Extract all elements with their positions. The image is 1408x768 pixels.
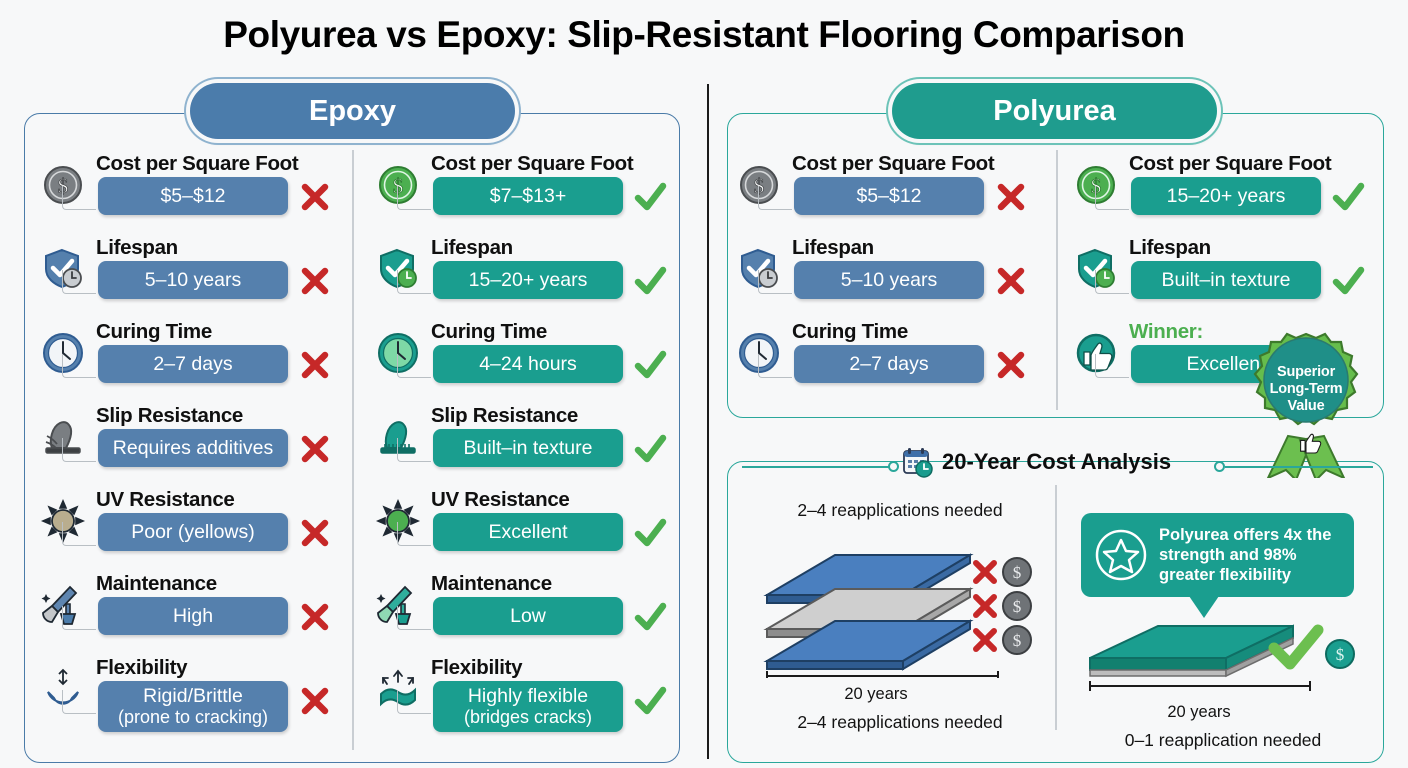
polyurea-header-pill[interactable]: Polyurea [892, 83, 1217, 139]
epoxy-polyurea-value-pill[interactable]: Excellent [433, 513, 623, 551]
page-title: Polyurea vs Epoxy: Slip-Resistant Floori… [0, 14, 1408, 56]
cross-mark-icon [994, 348, 1028, 382]
polyurea-polyurea-value-pill[interactable]: 15–20+ years [1131, 177, 1321, 215]
epoxy-epoxy-value: Requires additives [113, 437, 273, 459]
polyurea-epoxy-value: 5–10 years [841, 269, 937, 291]
polyurea-polyurea-label: Cost per Square Foot [1129, 152, 1331, 176]
epoxy-epoxy-value-pill[interactable]: 2–7 days [98, 345, 288, 383]
epoxy-epoxy-value-pill[interactable]: Requires additives [98, 429, 288, 467]
epoxy-polyurea-value: Highly flexible [468, 685, 588, 707]
epoxy-epoxy-value-sub: (prone to cracking) [118, 707, 268, 728]
polyurea-epoxy-mark [994, 348, 1028, 382]
cost-analysis-line-right [1225, 466, 1373, 468]
connector-line [62, 522, 96, 546]
cost-analysis-node-left [888, 461, 899, 472]
polyurea-polyurea-label: Lifespan [1129, 236, 1211, 260]
epoxy-epoxy-mark [298, 348, 332, 382]
cost-analysis-epoxy-column: 2–4 reapplications needed [755, 500, 1045, 733]
epoxy-layers-diagram: $ $ $ [755, 533, 1045, 678]
connector-line [62, 186, 96, 210]
epoxy-polyurea-mark [633, 180, 667, 214]
cost-analysis-polyurea-column: $ 20 years 0–1 reapplication needed [1078, 620, 1368, 751]
polyurea-polyurea-value: Built–in texture [1162, 269, 1291, 291]
epoxy-epoxy-label: Curing Time [96, 320, 212, 344]
polyurea-epoxy-mark [994, 264, 1028, 298]
cross-mark-icon [994, 180, 1028, 214]
epoxy-epoxy-label: Flexibility [96, 656, 187, 680]
cross-mark-icon [994, 264, 1028, 298]
left-panel-column-divider [352, 150, 354, 750]
polyurea-axis-label: 20 years [1030, 703, 1368, 722]
epoxy-polyurea-label: Flexibility [431, 656, 522, 680]
cost-analysis-heading-label: 20-Year Cost Analysis [942, 449, 1171, 475]
connector-line [397, 522, 431, 546]
check-mark-icon [1331, 180, 1365, 214]
epoxy-polyurea-value-pill[interactable]: Low [433, 597, 623, 635]
epoxy-polyurea-value: $7–$13+ [490, 185, 566, 207]
epoxy-epoxy-label: Maintenance [96, 572, 217, 596]
polyurea-polyurea-value-pill[interactable]: Built–in texture [1131, 261, 1321, 299]
connector-line [758, 270, 792, 294]
check-mark-icon [633, 432, 667, 466]
svg-text:$: $ [1013, 563, 1022, 582]
polyurea-epoxy-value-pill[interactable]: $5–$12 [794, 177, 984, 215]
polyurea-epoxy-label: Lifespan [792, 236, 874, 260]
connector-line [397, 270, 431, 294]
cost-analysis-heading: 20-Year Cost Analysis [900, 445, 1171, 479]
epoxy-polyurea-value-sub: (bridges cracks) [464, 707, 592, 728]
connector-line [397, 186, 431, 210]
cross-mark-icon [298, 600, 332, 634]
right-panel-column-divider [1056, 150, 1058, 410]
check-mark-icon [633, 600, 667, 634]
polyurea-polyurea-label: Winner: [1129, 320, 1203, 344]
connector-line [397, 438, 431, 462]
polyurea-epoxy-value-pill[interactable]: 2–7 days [794, 345, 984, 383]
epoxy-epoxy-value: 2–7 days [153, 353, 232, 375]
polyurea-polyurea-mark [1331, 264, 1365, 298]
epoxy-epoxy-label: UV Resistance [96, 488, 235, 512]
epoxy-polyurea-value: Built–in texture [464, 437, 593, 459]
epoxy-reapplications-top: 2–4 reapplications needed [755, 500, 1045, 521]
epoxy-reapplications-bottom: 2–4 reapplications needed [755, 712, 1045, 733]
epoxy-polyurea-value-pill[interactable]: 4–24 hours [433, 345, 623, 383]
polyurea-polyurea-value: 15–20+ years [1167, 185, 1286, 207]
epoxy-polyurea-value-pill[interactable]: $7–$13+ [433, 177, 623, 215]
epoxy-polyurea-value: Excellent [488, 521, 567, 543]
cross-mark-icon [298, 348, 332, 382]
epoxy-polyurea-mark [633, 516, 667, 550]
check-mark-icon [633, 684, 667, 718]
epoxy-epoxy-value-pill[interactable]: High [98, 597, 288, 635]
cost-analysis-line-left [742, 466, 890, 468]
cross-mark-icon [298, 684, 332, 718]
epoxy-epoxy-value: Poor (yellows) [131, 521, 255, 543]
epoxy-epoxy-value: High [173, 605, 213, 627]
epoxy-polyurea-value-pill[interactable]: Highly flexible(bridges cracks) [433, 681, 623, 732]
polyurea-epoxy-mark [994, 180, 1028, 214]
polyurea-epoxy-label: Cost per Square Foot [792, 152, 994, 176]
panel-divider [707, 84, 709, 759]
cross-mark-icon [298, 432, 332, 466]
epoxy-epoxy-value: $5–$12 [160, 185, 225, 207]
cross-mark-icon [298, 264, 332, 298]
epoxy-epoxy-mark [298, 684, 332, 718]
check-mark-icon [633, 264, 667, 298]
epoxy-polyurea-mark [633, 348, 667, 382]
polyurea-callout-text: Polyurea offers 4x the strength and 98% … [1159, 525, 1342, 585]
connector-line [758, 186, 792, 210]
calendar-clock-icon [900, 445, 934, 479]
connector-line [62, 438, 96, 462]
polyurea-callout: Polyurea offers 4x the strength and 98% … [1081, 513, 1354, 597]
connector-line [62, 354, 96, 378]
epoxy-epoxy-value-pill[interactable]: Rigid/Brittle(prone to cracking) [98, 681, 288, 732]
polyurea-polyurea-mark [1331, 180, 1365, 214]
connector-line [62, 690, 96, 714]
epoxy-epoxy-value-pill[interactable]: 5–10 years [98, 261, 288, 299]
polyurea-epoxy-value: $5–$12 [856, 185, 921, 207]
connector-line [62, 270, 96, 294]
check-mark-icon [633, 348, 667, 382]
check-mark-icon [633, 516, 667, 550]
winner-badge: Superior Long-Term Value [1238, 332, 1374, 478]
epoxy-polyurea-value: Low [510, 605, 546, 627]
connector-line [1095, 270, 1129, 294]
epoxy-header-label: Epoxy [309, 95, 396, 128]
connector-line [62, 606, 96, 630]
polyurea-reapplications-bottom: 0–1 reapplication needed [1078, 730, 1368, 751]
connector-line [1095, 186, 1129, 210]
connector-line [758, 354, 792, 378]
epoxy-epoxy-value-pill[interactable]: $5–$12 [98, 177, 288, 215]
infographic-root: Polyurea vs Epoxy: Slip-Resistant Floori… [0, 0, 1408, 768]
callout-tail [1189, 596, 1219, 618]
epoxy-polyurea-label: Maintenance [431, 572, 552, 596]
epoxy-polyurea-label: UV Resistance [431, 488, 570, 512]
polyurea-epoxy-value: 2–7 days [849, 353, 928, 375]
epoxy-epoxy-mark [298, 180, 332, 214]
connector-line [397, 354, 431, 378]
epoxy-polyurea-value-pill[interactable]: Built–in texture [433, 429, 623, 467]
epoxy-epoxy-label: Slip Resistance [96, 404, 243, 428]
cost-analysis-node-right [1214, 461, 1225, 472]
svg-text:$: $ [1336, 645, 1345, 664]
polyurea-header-label: Polyurea [993, 95, 1116, 128]
star-icon [1093, 527, 1149, 583]
epoxy-epoxy-value-pill[interactable]: Poor (yellows) [98, 513, 288, 551]
epoxy-epoxy-mark [298, 264, 332, 298]
epoxy-epoxy-mark [298, 600, 332, 634]
cost-analysis-divider [1055, 485, 1057, 730]
cross-mark-icon [298, 180, 332, 214]
svg-text:$: $ [1013, 631, 1022, 650]
epoxy-polyurea-label: Slip Resistance [431, 404, 578, 428]
svg-text:$: $ [1013, 597, 1022, 616]
polyurea-epoxy-value-pill[interactable]: 5–10 years [794, 261, 984, 299]
connector-line [397, 606, 431, 630]
epoxy-polyurea-label: Curing Time [431, 320, 547, 344]
award-ribbon-icon [1238, 332, 1374, 478]
epoxy-epoxy-mark [298, 432, 332, 466]
connector-line [397, 690, 431, 714]
epoxy-polyurea-value: 4–24 hours [479, 353, 577, 375]
epoxy-polyurea-mark [633, 432, 667, 466]
epoxy-header-pill[interactable]: Epoxy [190, 83, 515, 139]
epoxy-epoxy-value: 5–10 years [145, 269, 241, 291]
polyurea-epoxy-label: Curing Time [792, 320, 908, 344]
epoxy-polyurea-value-pill[interactable]: 15–20+ years [433, 261, 623, 299]
epoxy-epoxy-mark [298, 516, 332, 550]
epoxy-epoxy-value: Rigid/Brittle [143, 685, 243, 707]
check-mark-icon [633, 180, 667, 214]
epoxy-axis-label: 20 years [707, 685, 1045, 704]
polyurea-layer-diagram: $ [1078, 620, 1368, 696]
check-mark-icon [1331, 264, 1365, 298]
epoxy-polyurea-mark [633, 264, 667, 298]
epoxy-polyurea-mark [633, 684, 667, 718]
epoxy-polyurea-label: Cost per Square Foot [431, 152, 633, 176]
epoxy-epoxy-label: Lifespan [96, 236, 178, 260]
epoxy-epoxy-label: Cost per Square Foot [96, 152, 298, 176]
cross-mark-icon [298, 516, 332, 550]
epoxy-polyurea-mark [633, 600, 667, 634]
connector-line [1095, 354, 1129, 378]
epoxy-polyurea-label: Lifespan [431, 236, 513, 260]
epoxy-polyurea-value: 15–20+ years [469, 269, 588, 291]
